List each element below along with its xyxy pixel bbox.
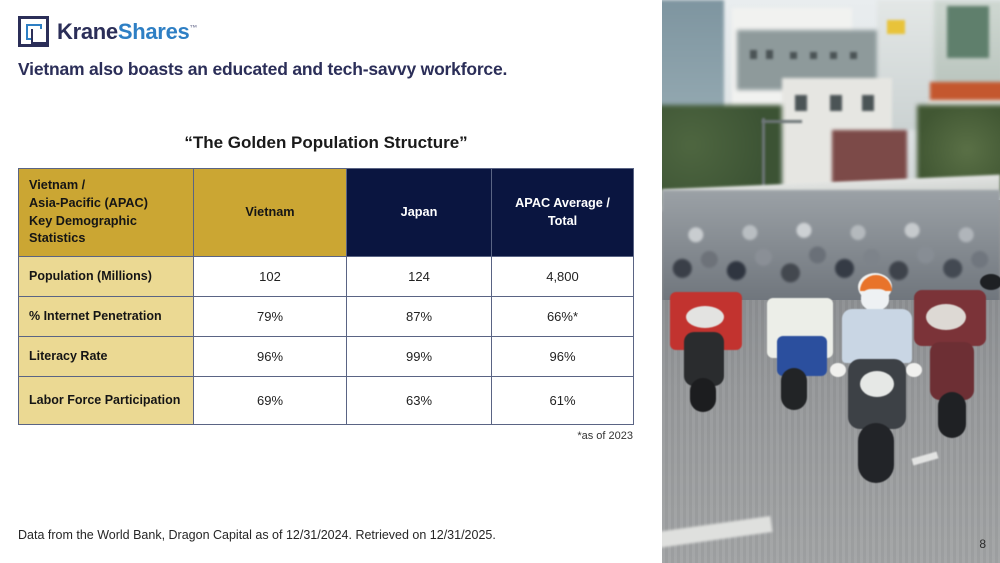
table-header-apac: APAC Average / Total [492,169,634,257]
scooter-red [662,286,760,416]
row-label: % Internet Penetration [19,297,194,337]
table-header-row: Vietnam / Asia-Pacific (APAC) Key Demogr… [19,169,634,257]
wordmark-krane: Krane [57,19,118,44]
cell-vietnam: 69% [194,377,347,425]
trademark-icon: ™ [189,23,197,32]
table-title: “The Golden Population Structure” [18,133,634,153]
cell-japan: 124 [347,257,492,297]
table-row: Population (Millions) 102 124 4,800 [19,257,634,297]
row-label: Literacy Rate [19,337,194,377]
vietnam-traffic-photo: 8 [662,0,1000,563]
cell-japan: 99% [347,337,492,377]
cell-vietnam: 79% [194,297,347,337]
header-line-1: Vietnam / [29,177,193,195]
brand-wordmark: KraneShares™ [57,21,197,43]
source-line: Data from the World Bank, Dragon Capital… [18,528,496,542]
apac-header-line-2: Total [492,213,633,231]
table-row: % Internet Penetration 79% 87% 66%* [19,297,634,337]
cell-apac: 96% [492,337,634,377]
table-header-metric: Vietnam / Asia-Pacific (APAC) Key Demogr… [19,169,194,257]
slide: KraneShares™ Vietnam also boasts an educ… [0,0,1000,563]
header-line-3: Key Demographic [29,213,193,231]
cell-vietnam: 96% [194,337,347,377]
scooter-maroon [900,282,1000,442]
table-header-japan: Japan [347,169,492,257]
header-line-2: Asia-Pacific (APAC) [29,195,193,213]
row-label: Population (Millions) [19,257,194,297]
cell-apac: 4,800 [492,257,634,297]
slide-number: 8 [979,537,986,551]
table-row: Literacy Rate 96% 99% 96% [19,337,634,377]
wordmark-shares: Shares [118,19,190,44]
row-label: Labor Force Participation [19,377,194,425]
demographics-table: Vietnam / Asia-Pacific (APAC) Key Demogr… [18,168,634,425]
table-footnote: *as of 2023 [18,430,633,442]
cell-apac: 66%* [492,297,634,337]
header-line-4: Statistics [29,230,193,248]
table-row: Labor Force Participation 69% 63% 61% [19,377,634,425]
apac-header-line-1: APAC Average / [492,195,633,213]
cell-japan: 87% [347,297,492,337]
brand-logo[interactable]: KraneShares™ [18,16,197,47]
table-header-vietnam: Vietnam [194,169,347,257]
cell-apac: 61% [492,377,634,425]
cell-japan: 63% [347,377,492,425]
kraneshares-square-logo-icon [18,16,49,47]
cell-vietnam: 102 [194,257,347,297]
page-title: Vietnam also boasts an educated and tech… [18,59,507,80]
